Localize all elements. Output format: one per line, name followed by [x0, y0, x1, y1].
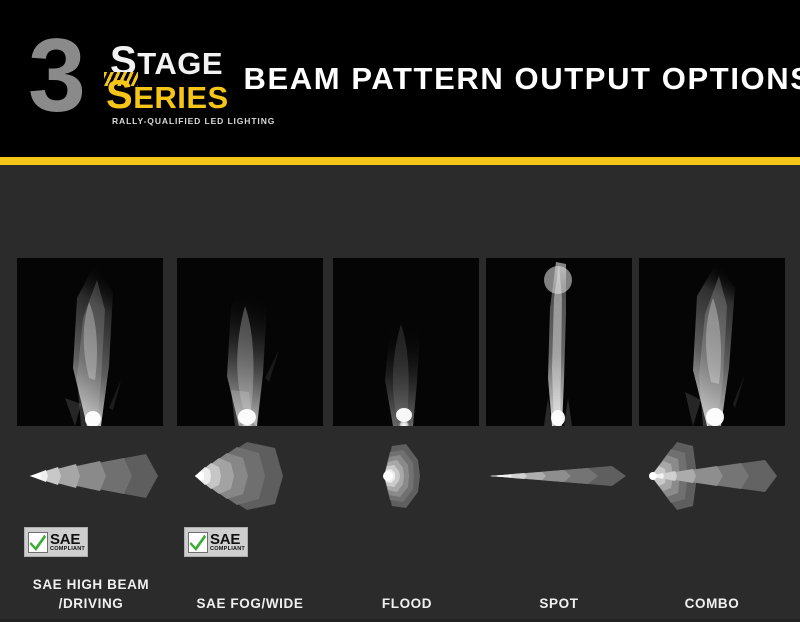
column-label-fog-wide: SAE FOG/WIDE [175, 547, 325, 615]
beam-profile-flood-icon [332, 440, 482, 512]
accent-divider [0, 157, 800, 165]
night-road-photo [333, 258, 479, 426]
stage-series-logo: 3 STAGE SERIES RALLY-QUALIFIED LED LIGHT… [28, 28, 253, 132]
sae-badge-text: SAE COMPLIANT [210, 532, 245, 553]
header-bar: 3 STAGE SERIES RALLY-QUALIFIED LED LIGHT… [0, 0, 800, 157]
logo-series-rest: ERIES [133, 80, 229, 115]
label-line-1: FLOOD [332, 594, 482, 613]
beam-shape-fog-wide [175, 440, 325, 512]
sae-compliant-badge-fog-wide: SAE COMPLIANT [184, 527, 248, 557]
beam-shape-driving [16, 440, 166, 512]
night-road-photo [486, 258, 632, 426]
sae-badge-sub: COMPLIANT [210, 547, 245, 553]
label-line-1: SAE HIGH BEAM [16, 575, 166, 594]
column-label-driving: SAE HIGH BEAM /DRIVING [16, 547, 166, 615]
beam-photo-fog-wide [177, 258, 323, 426]
sae-badge-text: SAE COMPLIANT [50, 532, 85, 553]
beam-photo-spot [486, 258, 632, 426]
beam-photo-combo [639, 258, 785, 426]
page-title: BEAM PATTERN OUTPUT OPTIONS [268, 0, 788, 157]
label-line-2: /DRIVING [16, 594, 166, 613]
logo-numeral-3: 3 [28, 28, 82, 124]
beam-shape-combo [637, 440, 787, 512]
night-road-photo [639, 258, 785, 426]
logo-series-capital: S [106, 73, 133, 117]
check-icon [28, 532, 48, 553]
night-road-photo [17, 258, 163, 426]
label-line-1: COMBO [637, 594, 787, 613]
logo-word-series: SERIES [106, 80, 229, 113]
column-label-flood: FLOOD [332, 547, 482, 615]
beam-profile-fog-wide-icon [175, 440, 325, 512]
beam-profile-spot-icon [484, 440, 634, 512]
sae-compliant-badge-driving: SAE COMPLIANT [24, 527, 88, 557]
beam-shape-spot [484, 440, 634, 512]
column-label-combo: COMBO [637, 547, 787, 615]
logo-stage-rest: TAGE [137, 46, 223, 81]
sae-badge-sub: COMPLIANT [50, 547, 85, 553]
beam-profile-driving-icon [16, 440, 166, 512]
beam-pattern-infographic: 3 STAGE SERIES RALLY-QUALIFIED LED LIGHT… [0, 0, 800, 622]
beam-profile-combo-icon [637, 440, 787, 512]
label-line-1: SPOT [484, 594, 634, 613]
sae-badge-main: SAE [50, 532, 85, 547]
check-icon [188, 532, 208, 553]
label-line-1: SAE FOG/WIDE [175, 594, 325, 613]
night-road-photo [177, 258, 323, 426]
sae-badge-main: SAE [210, 532, 245, 547]
beam-shape-flood [332, 440, 482, 512]
column-label-spot: SPOT [484, 547, 634, 615]
beam-photo-driving [17, 258, 163, 426]
beam-photo-flood [333, 258, 479, 426]
logo-tagline: RALLY-QUALIFIED LED LIGHTING [112, 116, 275, 126]
